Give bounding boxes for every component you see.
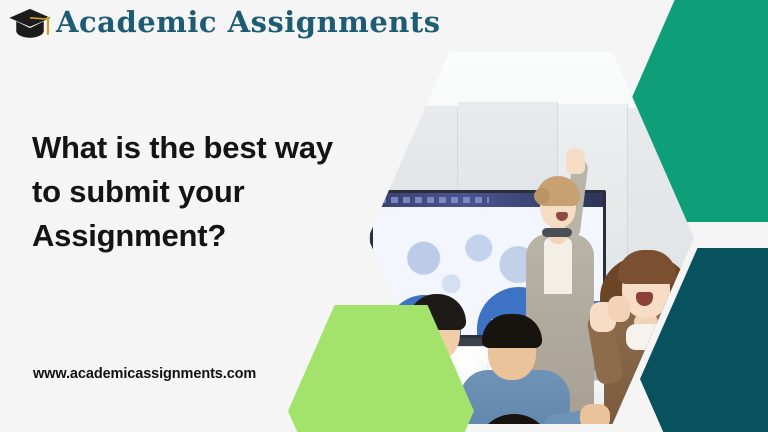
person-right-hand: [608, 296, 630, 322]
person-standing-hand: [566, 148, 585, 174]
person-front-center-hand: [580, 404, 610, 424]
graduation-cap-icon: [8, 4, 52, 44]
brand-logo[interactable]: Academic Assignments: [8, 4, 441, 44]
brand-name: Academic Assignments: [56, 8, 441, 37]
promo-banner: Flat Business: [0, 0, 768, 432]
person-standing-bun: [534, 188, 550, 204]
brand-text-block: Academic Assignments: [56, 8, 441, 41]
website-url[interactable]: www.academicassignments.com: [33, 366, 256, 382]
person-standing-shirt: [544, 238, 572, 294]
page-title: What is the best way to submit your Assi…: [32, 126, 362, 258]
person-standing-scarf: [542, 228, 572, 237]
